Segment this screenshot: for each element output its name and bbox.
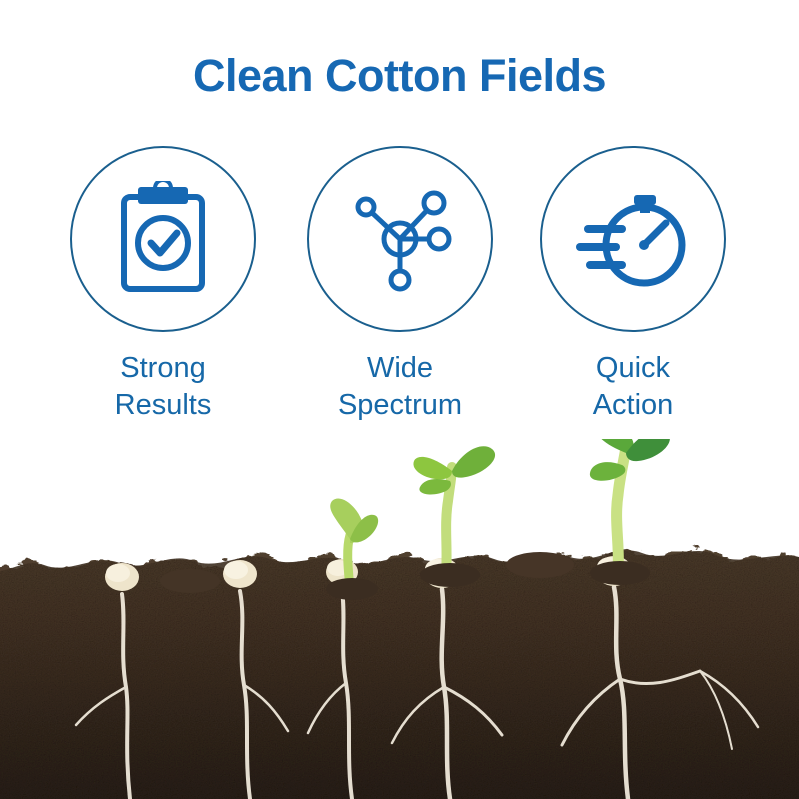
network-nodes-icon <box>344 183 456 295</box>
feature-strong-results[interactable]: Strong Results <box>43 146 283 424</box>
feature-label-3: Quick Action <box>513 350 753 424</box>
feature-icon-circle-3 <box>540 146 726 332</box>
feature-wide-spectrum[interactable]: Wide Spectrum <box>280 146 520 424</box>
feature-quick-action[interactable]: Quick Action <box>513 146 753 424</box>
soil-scene <box>0 439 799 799</box>
clipboard-check-icon <box>108 181 218 297</box>
feature-icon-circle-1 <box>70 146 256 332</box>
feature-label-2: Wide Spectrum <box>280 350 520 424</box>
feature-icon-circle-2 <box>307 146 493 332</box>
seedling-young <box>413 446 495 573</box>
feature-label-1: Strong Results <box>43 350 283 424</box>
feature-row: Strong Results <box>0 146 799 436</box>
page-title: Clean Cotton Fields <box>0 50 799 102</box>
stopwatch-speed-icon <box>574 183 692 295</box>
poster-canvas: Clean Cotton Fields Strong Results <box>0 0 799 799</box>
